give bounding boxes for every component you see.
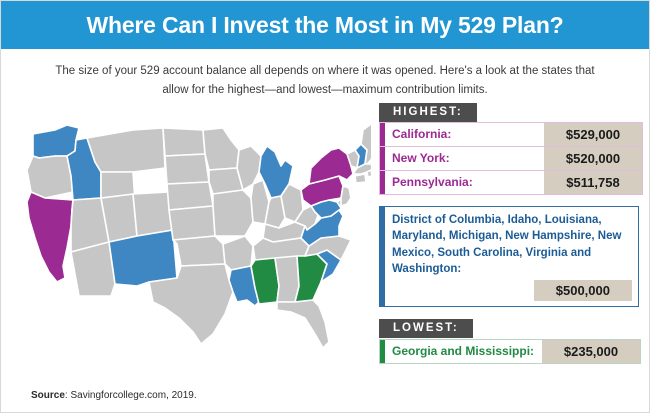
state-missouri: [213, 190, 253, 236]
state-value: $235,000: [542, 340, 640, 363]
highest-table: California: $529,000 New York: $520,000 …: [379, 122, 641, 195]
state-north-dakota: [163, 128, 205, 156]
state-alabama: [275, 256, 299, 302]
table-row: Georgia and Mississippi: $235,000: [379, 339, 641, 364]
table-row: New York: $520,000: [379, 147, 643, 171]
mid-tier-value-wrap: $500,000: [392, 280, 632, 301]
state-oklahoma: [173, 236, 225, 266]
subtitle-text: The size of your 529 account balance all…: [45, 62, 605, 100]
state-new-jersey: [341, 186, 351, 206]
state-minnesota: [203, 128, 239, 170]
state-montana: [87, 128, 165, 172]
state-kansas: [169, 206, 215, 240]
state-value: $511,758: [544, 171, 642, 194]
mid-tier-box: District of Columbia, Idaho, Louisiana, …: [379, 206, 639, 307]
us-map: [9, 106, 371, 358]
lowest-band-label: LOWEST:: [379, 319, 473, 338]
page-title: Where Can I Invest the Most in My 529 Pl…: [86, 12, 563, 39]
us-map-svg: [9, 106, 371, 358]
state-nebraska: [167, 182, 213, 210]
header-bar: Where Can I Invest the Most in My 529 Pl…: [1, 1, 649, 49]
state-label: California:: [385, 123, 544, 146]
source-note: Source: Savingforcollege.com, 2019.: [31, 390, 197, 401]
source-text: : Savingforcollege.com, 2019.: [65, 390, 197, 401]
highest-band-label: HIGHEST:: [379, 103, 477, 122]
table-row: Pennsylvania: $511,758: [379, 171, 643, 195]
state-label: Pennsylvania:: [385, 171, 544, 194]
mid-tier-inner: District of Columbia, Idaho, Louisiana, …: [385, 207, 638, 306]
mid-tier-states-label: District of Columbia, Idaho, Louisiana, …: [392, 212, 632, 277]
state-label: Georgia and Mississippi:: [385, 340, 542, 363]
state-value: $520,000: [544, 147, 642, 170]
mid-tier-value: $500,000: [534, 280, 632, 301]
state-california: [27, 192, 73, 282]
state-florida: [277, 300, 329, 348]
state-connecticut: [355, 174, 366, 183]
state-arkansas: [223, 236, 253, 270]
state-colorado: [133, 192, 173, 236]
state-label: New York:: [385, 147, 544, 170]
state-arizona: [71, 242, 115, 296]
content-area: HIGHEST: California: $529,000 New York: …: [1, 100, 649, 400]
state-value: $529,000: [544, 123, 642, 146]
state-rhode-island: [367, 170, 371, 177]
source-prefix: Source: [31, 390, 65, 401]
data-panel: HIGHEST: California: $529,000 New York: …: [379, 102, 641, 364]
table-row: California: $529,000: [379, 122, 643, 147]
state-oregon: [27, 156, 73, 198]
infographic-root: Where Can I Invest the Most in My 529 Pl…: [0, 0, 650, 413]
state-south-dakota: [165, 154, 209, 184]
